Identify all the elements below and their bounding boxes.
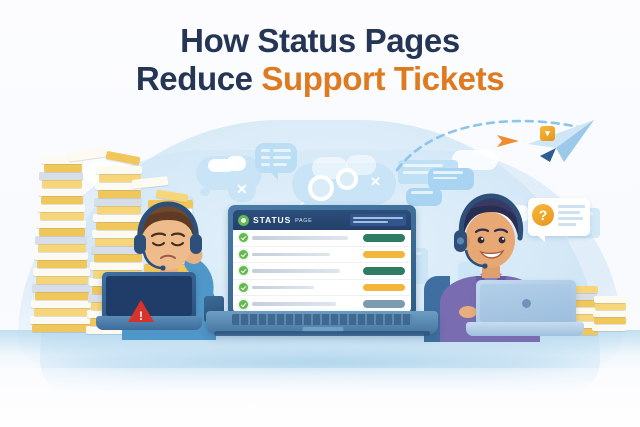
table-row[interactable]: [233, 263, 411, 280]
table-row[interactable]: [233, 247, 411, 264]
laptop-lid: STATUS PAGE: [228, 205, 416, 317]
download-circle-icon: [238, 215, 249, 226]
status-badge: [363, 300, 405, 308]
gear-icon: [308, 175, 334, 201]
arrow-icon: [496, 132, 522, 150]
paper-plane-icon: [524, 118, 598, 166]
status-page-subtitle: PAGE: [295, 218, 312, 224]
status-page-header-badge[interactable]: [350, 214, 406, 226]
title-line-1: How Status Pages: [0, 22, 640, 60]
service-name-placeholder: [252, 269, 340, 273]
status-badge: [363, 251, 405, 259]
laptop-logo-icon: [522, 299, 531, 308]
check-circle-icon: [239, 233, 248, 242]
status-page-screen[interactable]: STATUS PAGE: [233, 210, 411, 312]
bottom-fade: [0, 368, 640, 427]
title-line-2-plain: Reduce: [136, 60, 262, 97]
check-circle-icon: [239, 250, 248, 259]
status-page-header: STATUS PAGE: [233, 210, 411, 230]
send-badge-icon: ▾: [540, 126, 555, 141]
card-text-lines: [558, 205, 585, 229]
service-name-placeholder: [252, 253, 330, 257]
keyboard[interactable]: [232, 314, 412, 325]
page-title: How Status Pages Reduce Support Tickets: [0, 22, 640, 99]
poster-canvas: How Status Pages Reduce Support Tickets …: [0, 0, 640, 427]
x-mark-bubble: ✕: [228, 178, 260, 204]
status-badge: [363, 267, 405, 275]
right-agent-laptop: [466, 280, 584, 342]
title-line-2: Reduce Support Tickets: [0, 60, 640, 98]
status-badge: [363, 234, 405, 242]
left-agent-laptop: !: [96, 272, 202, 338]
service-name-placeholder: [252, 302, 336, 306]
check-circle-icon: [239, 300, 248, 309]
check-circle-icon: [239, 266, 248, 275]
table-row[interactable]: [233, 230, 411, 247]
service-name-placeholder: [252, 236, 348, 240]
service-name-placeholder: [252, 286, 314, 290]
status-badge: [363, 284, 405, 292]
list-bubble-icon: [255, 143, 297, 173]
laptop-foot: [214, 331, 430, 336]
title-line-2-highlight: Support Tickets: [261, 60, 504, 97]
check-circle-icon: [239, 283, 248, 292]
table-row[interactable]: [233, 296, 411, 312]
status-page-title: STATUS: [253, 215, 291, 225]
gear-cloud-bubble: ✕: [292, 155, 404, 211]
status-row-list: [233, 230, 411, 312]
table-row[interactable]: [233, 280, 411, 297]
center-laptop: STATUS PAGE: [206, 205, 438, 347]
x-mark-icon: ✕: [370, 174, 381, 190]
gear-icon: [336, 168, 358, 190]
